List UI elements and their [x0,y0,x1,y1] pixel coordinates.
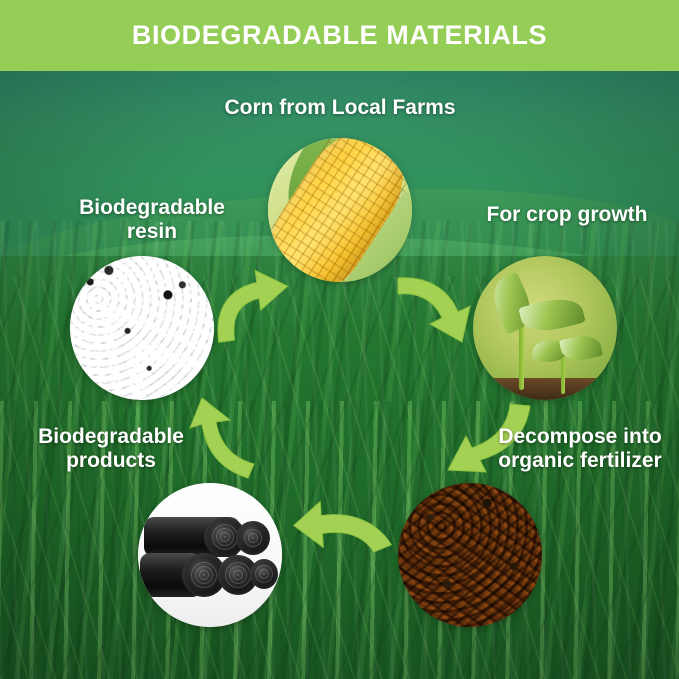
node-image-trash-bags [138,483,282,627]
resin-pellets-texture [70,256,214,400]
header-bar: BIODEGRADABLE MATERIALS [0,0,679,71]
label-organic-fertilizer: Decompose into organic fertilizer [482,425,678,474]
biodegradable-materials-infographic: BIODEGRADABLE MATERIALS [0,0,679,679]
arrow-corn-to-growth [392,268,488,350]
node-image-soil [398,483,542,627]
node-image-resin [70,256,214,400]
label-crop-growth: For crop growth [462,203,672,227]
label-resin: Biodegradable resin [42,196,262,245]
label-corn: Corn from Local Farms [190,96,490,120]
arrow-fertilizer-to-products [292,492,396,562]
soil-texture [398,483,542,627]
seedling-soil-strip [473,378,617,400]
node-image-corn [268,138,412,282]
arrow-resin-to-corn [200,268,294,344]
node-image-seedlings [473,256,617,400]
trash-bag-end-front-3 [250,559,278,589]
trash-bag-end-back-2 [236,521,270,555]
label-biodegradable-products: Biodegradable products [6,425,216,474]
page-title: BIODEGRADABLE MATERIALS [132,22,547,49]
